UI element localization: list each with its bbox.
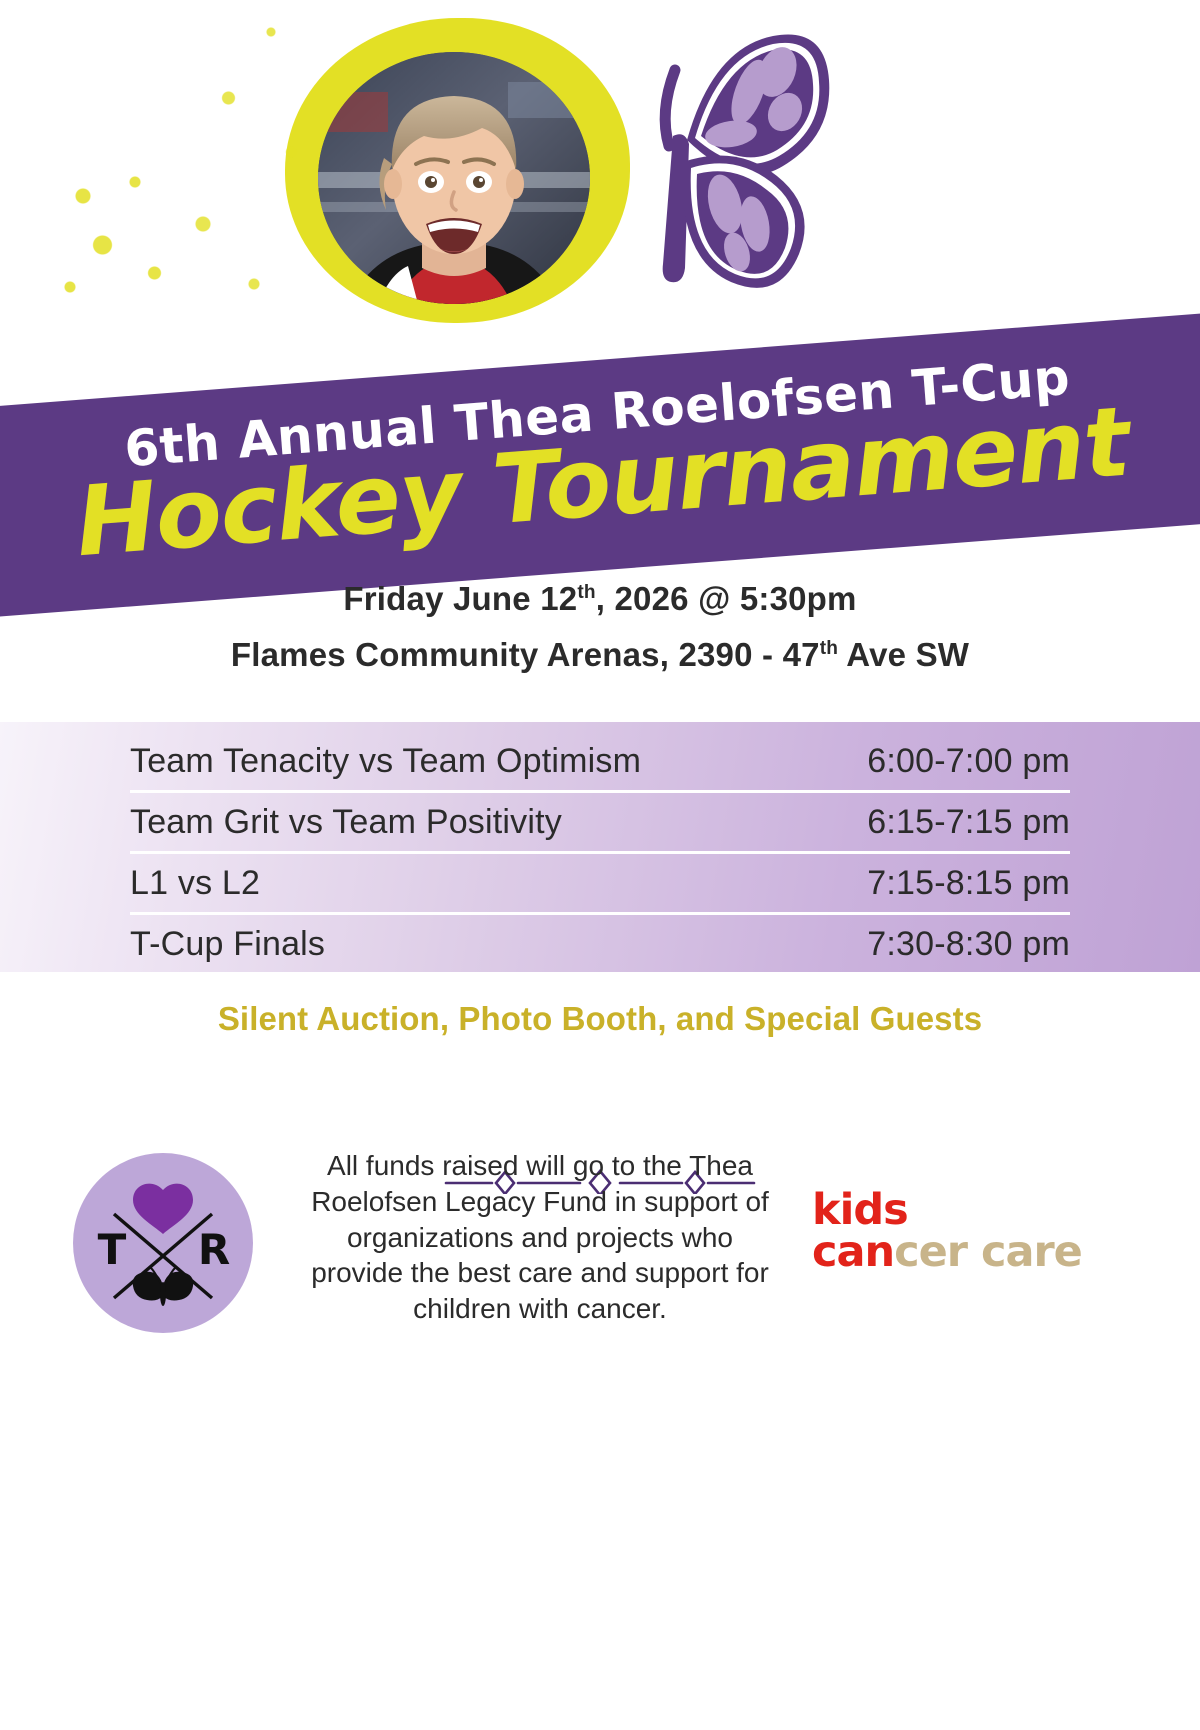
- schedule-time: 6:00-7:00 pm: [867, 742, 1070, 781]
- table-row: Team Grit vs Team Positivity 6:15-7:15 p…: [130, 793, 1070, 854]
- schedule-band: Team Tenacity vs Team Optimism 6:00-7:00…: [0, 722, 1200, 972]
- event-venue-ordinal: th: [820, 638, 838, 659]
- schedule-match: Team Grit vs Team Positivity: [130, 803, 867, 842]
- schedule-match: L1 vs L2: [130, 864, 867, 903]
- event-venue-prefix: Flames Community Arenas, 2390 - 47: [231, 636, 820, 673]
- table-row: Team Tenacity vs Team Optimism 6:00-7:00…: [130, 732, 1070, 793]
- table-row: T-Cup Finals 7:30-8:30 pm: [130, 915, 1070, 973]
- schedule-time: 6:15-7:15 pm: [867, 803, 1070, 842]
- kids-cancer-care-logo: kids cancer care: [812, 1190, 1082, 1280]
- event-date-ordinal: th: [577, 582, 595, 603]
- thea-roelofsen-tr-logo: T R: [72, 1152, 254, 1334]
- event-date-prefix: Friday June 12: [343, 580, 577, 617]
- schedule-match: T-Cup Finals: [130, 925, 867, 964]
- kcc-can: can: [812, 1227, 894, 1277]
- legacy-blurb: All funds raised will go to the Thea Roe…: [300, 1148, 780, 1327]
- poster-canvas: 6th Annual Thea Roelofsen T-Cup Hockey T…: [0, 0, 1200, 1730]
- sponsor-logos: Errol Biebrick HOME COLLECTIVE RE/MAX iR…: [0, 1352, 1200, 1730]
- schedule-time: 7:30-8:30 pm: [867, 925, 1070, 964]
- event-venue-suffix: Ave SW: [838, 636, 969, 673]
- schedule-time: 7:15-8:15 pm: [867, 864, 1070, 903]
- auction-headline: Silent Auction, Photo Booth, and Special…: [0, 1000, 1200, 1038]
- event-venue: Flames Community Arenas, 2390 - 47th Ave…: [0, 636, 1200, 674]
- table-row: L1 vs L2 7:15-8:15 pm: [130, 854, 1070, 915]
- kcc-cer-care: cer care: [894, 1227, 1082, 1277]
- butterfly-icon: [625, 28, 840, 298]
- child-photo: [318, 52, 590, 304]
- svg-text:T: T: [98, 1225, 127, 1274]
- svg-text:R: R: [198, 1225, 230, 1274]
- schedule-match: Team Tenacity vs Team Optimism: [130, 742, 867, 781]
- event-date-suffix: , 2026 @ 5:30pm: [596, 580, 857, 617]
- banner-background: 6th Annual Thea Roelofsen T-Cup Hockey T…: [0, 310, 1200, 621]
- event-date: Friday June 12th, 2026 @ 5:30pm: [0, 580, 1200, 618]
